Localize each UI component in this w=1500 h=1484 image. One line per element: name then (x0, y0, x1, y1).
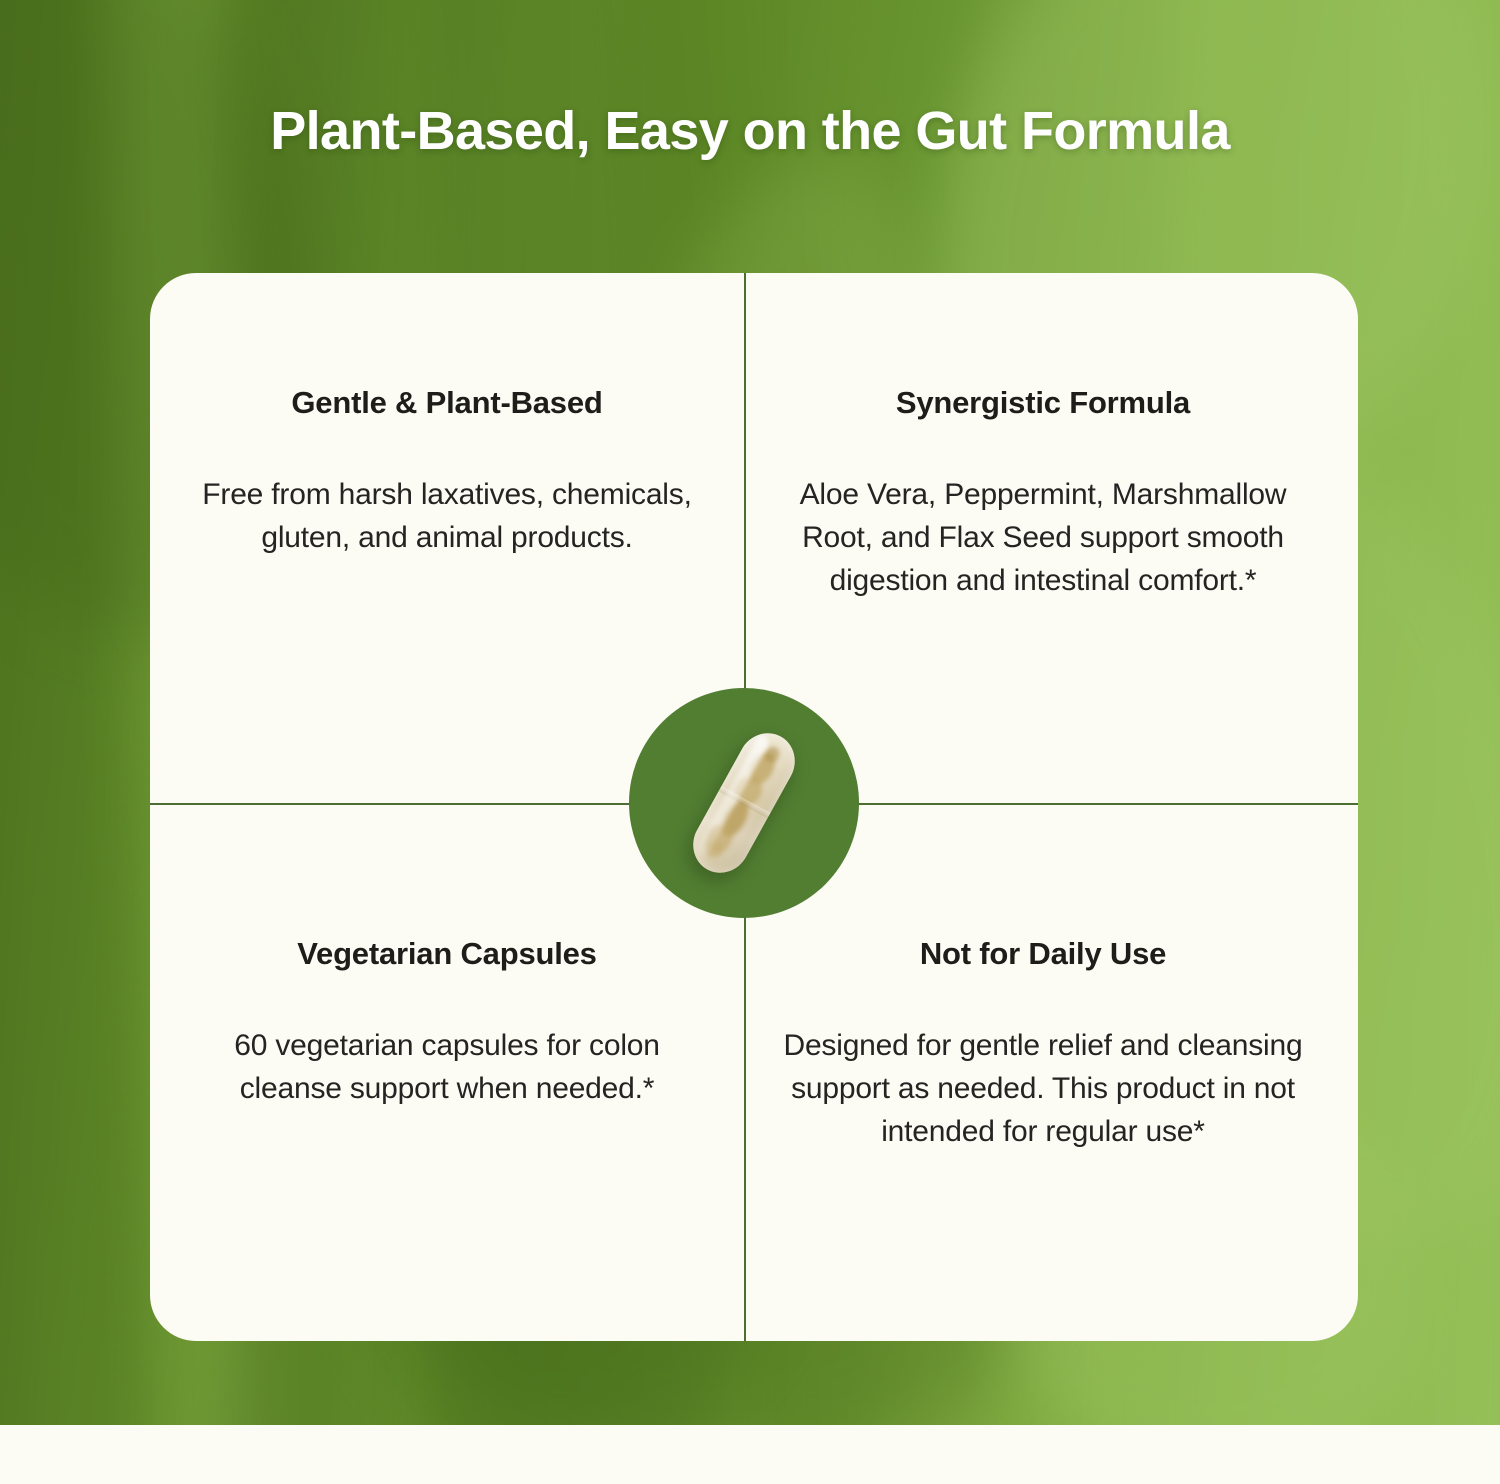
capsule-shell (683, 723, 806, 883)
feature-body: Aloe Vera, Peppermint, Marshmallow Root,… (780, 473, 1306, 602)
feature-body: Free from harsh laxatives, chemicals, gl… (184, 473, 710, 559)
feature-quadrant-vegetarian-capsules: Vegetarian Capsules 60 vegetarian capsul… (150, 805, 744, 1335)
feature-quadrant-gentle-plant-based: Gentle & Plant-Based Free from harsh lax… (150, 273, 744, 803)
feature-title: Synergistic Formula (780, 385, 1306, 421)
feature-body: Designed for gentle relief and cleansing… (780, 1024, 1306, 1153)
infographic-canvas: Plant-Based, Easy on the Gut Formula Gen… (0, 0, 1500, 1484)
feature-card: Gentle & Plant-Based Free from harsh lax… (150, 273, 1358, 1341)
center-badge (629, 688, 859, 918)
feature-title: Vegetarian Capsules (184, 936, 710, 972)
feature-title: Gentle & Plant-Based (184, 385, 710, 421)
footer-strip: *These statements have not been evaluate… (0, 1425, 1500, 1484)
capsule-icon (683, 723, 806, 883)
page-title: Plant-Based, Easy on the Gut Formula (0, 100, 1500, 162)
feature-title: Not for Daily Use (780, 936, 1306, 972)
feature-quadrant-synergistic-formula: Synergistic Formula Aloe Vera, Peppermin… (746, 273, 1340, 803)
feature-body: 60 vegetarian capsules for colon cleanse… (184, 1024, 710, 1110)
feature-quadrant-not-for-daily-use: Not for Daily Use Designed for gentle re… (746, 805, 1340, 1335)
